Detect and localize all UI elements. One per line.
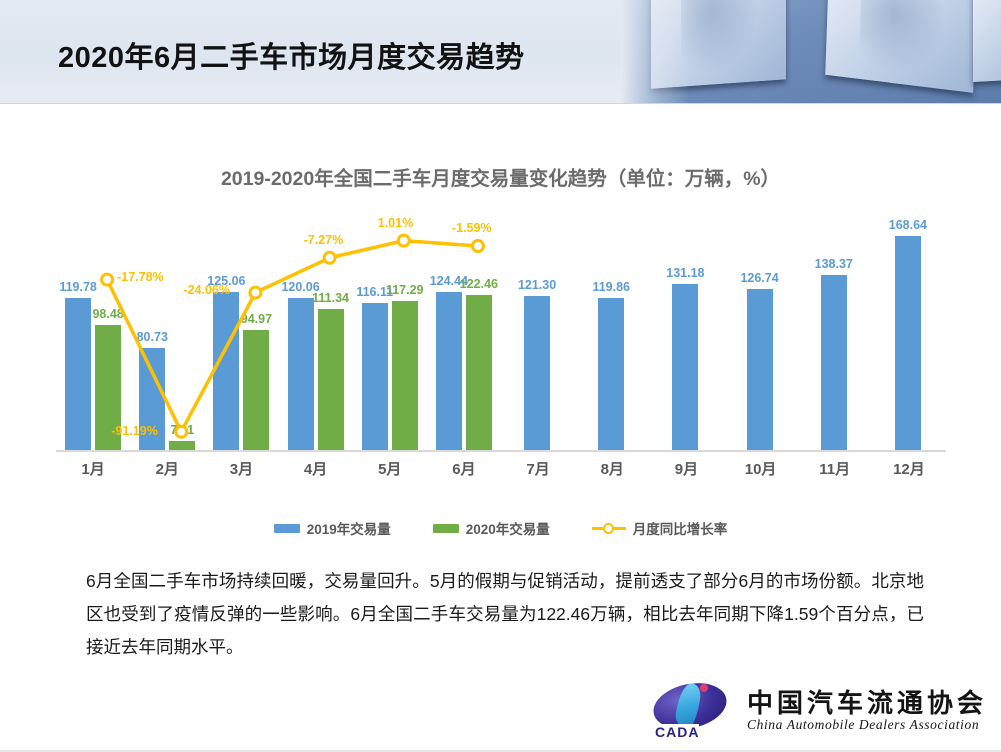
legend-label: 月度同比增长率	[633, 518, 728, 538]
line-marker-2月	[176, 426, 187, 437]
line-marker-6月	[472, 241, 483, 252]
chart-legend: 2019年交易量2020年交易量月度同比增长率	[0, 518, 1001, 538]
x-axis-tick-3月: 3月	[204, 458, 278, 479]
chart-title: 2019-2020年全国二手车月度交易量变化趋势（单位：万辆，%）	[0, 162, 1001, 191]
chart-plot-area: 119.7898.4880.737.11125.0694.97120.06111…	[56, 200, 946, 452]
logo-badge-text: CADA	[655, 724, 699, 740]
globe-map-overlay	[858, 0, 947, 79]
cube-shape-3	[973, 0, 1001, 82]
line-marker-4月	[324, 252, 335, 263]
line-label-4月: -7.27%	[304, 233, 344, 247]
x-axis-tick-7月: 7月	[501, 458, 575, 479]
legend-label: 2020年交易量	[466, 518, 550, 538]
line-label-2月: -91.19%	[111, 424, 158, 438]
x-axis-tick-8月: 8月	[575, 458, 649, 479]
legend-swatch-icon	[433, 524, 459, 533]
header-divider	[0, 103, 1001, 104]
x-axis-tick-4月: 4月	[279, 458, 353, 479]
x-axis-tick-11月: 11月	[798, 458, 872, 479]
chart-x-axis: 1月2月3月4月5月6月7月8月9月10月11月12月	[56, 458, 946, 482]
page-header: 2020年6月二手车市场月度交易趋势	[0, 0, 1001, 104]
line-label-6月: -1.59%	[452, 221, 492, 235]
globe-map-overlay	[681, 0, 759, 76]
cube-shape-1	[651, 0, 786, 89]
line-label-3月: -24.06%	[183, 283, 230, 297]
x-axis-tick-10月: 10月	[724, 458, 798, 479]
cada-logo-mark: CADA	[651, 682, 737, 740]
cube-shape-2	[825, 0, 977, 93]
line-label-5月: 1.01%	[378, 216, 413, 230]
x-axis-tick-2月: 2月	[130, 458, 204, 479]
x-axis-tick-5月: 5月	[353, 458, 427, 479]
x-axis-tick-9月: 9月	[649, 458, 723, 479]
chart-line-series-layer	[56, 200, 946, 452]
legend-item-1[interactable]: 2020年交易量	[433, 518, 550, 538]
line-label-1月: -17.78%	[117, 270, 164, 284]
legend-label: 2019年交易量	[307, 518, 391, 538]
logo-text-block: 中国汽车流通协会 China Automobile Dealers Associ…	[747, 689, 987, 734]
x-axis-tick-12月: 12月	[872, 458, 946, 479]
legend-item-2[interactable]: 月度同比增长率	[592, 518, 728, 538]
line-marker-3月	[250, 287, 261, 298]
logo-english-name: China Automobile Dealers Association	[747, 717, 987, 733]
legend-line-marker-icon	[592, 523, 626, 534]
organization-logo: CADA 中国汽车流通协会 China Automobile Dealers A…	[651, 682, 987, 740]
legend-item-0[interactable]: 2019年交易量	[274, 518, 391, 538]
line-marker-1月	[102, 274, 113, 285]
page-title: 2020年6月二手车市场月度交易趋势	[58, 34, 525, 76]
legend-swatch-icon	[274, 524, 300, 533]
logo-chinese-name: 中国汽车流通协会	[747, 689, 987, 718]
x-axis-tick-6月: 6月	[427, 458, 501, 479]
logo-dot-shape	[700, 684, 708, 692]
line-marker-5月	[398, 235, 409, 246]
header-decorative-image	[621, 0, 1001, 104]
x-axis-tick-1月: 1月	[56, 458, 130, 479]
commentary-paragraph: 6月全国二手车市场持续回暖，交易量回升。5月的假期与促销活动，提前透支了部分6月…	[86, 565, 924, 664]
